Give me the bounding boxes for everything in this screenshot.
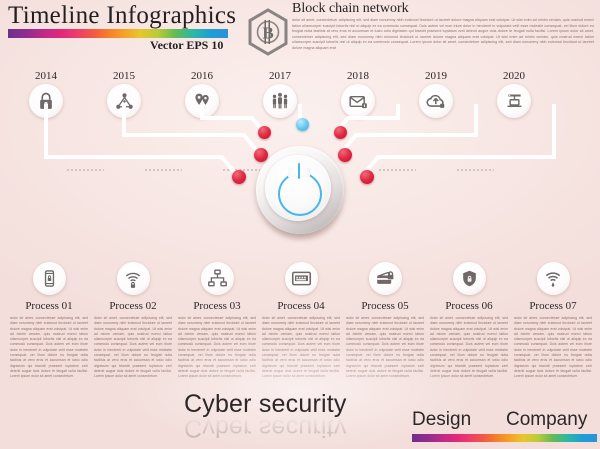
process-item-4[interactable]: Process 04dolor sit amet, consectetuer a… (260, 262, 342, 380)
connector-node-dot (254, 148, 268, 162)
article-title: Block chain network (292, 1, 409, 17)
timeline-year-label: 2019 (404, 70, 468, 82)
process-item-1[interactable]: Process 01dolor sit amet, consectetuer a… (8, 262, 90, 380)
power-dial[interactable] (254, 146, 346, 242)
process-row: Process 01dolor sit amet, consectetuer a… (0, 262, 600, 372)
process-body: dolor sit amet, consectetuer adipiscing … (92, 316, 174, 380)
connector-node-dot (338, 148, 352, 162)
process-body: dolor sit amet, consectetuer adipiscing … (512, 316, 594, 380)
process-item-3[interactable]: Process 03dolor sit amet, consectetuer a… (176, 262, 258, 380)
footer-title-reflection: Cyber security (184, 413, 347, 442)
process-title: Process 03 (176, 300, 258, 312)
connector-node-dot (360, 170, 374, 184)
process-title: Process 01 (8, 300, 90, 312)
timeline-year-label: 2018 (326, 70, 390, 82)
header-subtitle: Vector EPS 10 (150, 38, 223, 53)
process-title: Process 07 (512, 300, 594, 312)
monitor-keyboard-icon (285, 262, 318, 295)
timeline-year-label: 2014 (14, 70, 78, 82)
connector-node-dot (258, 126, 271, 139)
process-title: Process 06 (428, 300, 510, 312)
network-diagram-icon (201, 262, 234, 295)
header-gradient-bar (8, 29, 228, 38)
footer-design-label: Design (412, 409, 471, 431)
timeline-year-label: 2020 (482, 70, 546, 82)
article-body: dolor sit amet, consectetuer adipiscing … (292, 18, 594, 52)
page-title: Timeline Infographics (8, 2, 236, 30)
process-body: dolor sit amet, consectetuer adipiscing … (260, 316, 342, 380)
wifi-signal-icon (537, 262, 570, 295)
wallet-lock-icon (369, 262, 402, 295)
hexagon-bitcoin-icon: B (246, 8, 290, 56)
power-icon-stem (298, 163, 301, 179)
timeline-year-label: 2017 (248, 70, 312, 82)
connector-node-dot (232, 170, 246, 184)
process-title: Process 05 (344, 300, 426, 312)
process-title: Process 02 (92, 300, 174, 312)
process-body: dolor sit amet, consectetuer adipiscing … (8, 316, 90, 380)
process-title: Process 04 (260, 300, 342, 312)
process-item-7[interactable]: Process 07dolor sit amet, consectetuer a… (512, 262, 594, 380)
shield-lock-icon (453, 262, 486, 295)
wifi-lock-icon (117, 262, 150, 295)
process-item-2[interactable]: Process 02dolor sit amet, consectetuer a… (92, 262, 174, 380)
timeline-year-label: 2016 (170, 70, 234, 82)
power-button-icon (278, 172, 322, 216)
process-body: dolor sit amet, consectetuer adipiscing … (344, 316, 426, 380)
infographic-canvas: Timeline Infographics Vector EPS 10 B Bl… (0, 0, 600, 449)
apex-node-dot (296, 118, 309, 131)
svg-text:B: B (262, 24, 273, 43)
process-body: dolor sit amet, consectetuer adipiscing … (176, 316, 258, 380)
footer-company-label: Company (506, 409, 587, 431)
smartphone-lock-icon (33, 262, 66, 295)
connector-node-dot (334, 126, 347, 139)
process-body: dolor sit amet, consectetuer adipiscing … (428, 316, 510, 380)
process-item-6[interactable]: Process 06dolor sit amet, consectetuer a… (428, 262, 510, 380)
footer-gradient-bar (412, 434, 597, 442)
timeline-year-label: 2015 (92, 70, 156, 82)
process-item-5[interactable]: Process 05dolor sit amet, consectetuer a… (344, 262, 426, 380)
